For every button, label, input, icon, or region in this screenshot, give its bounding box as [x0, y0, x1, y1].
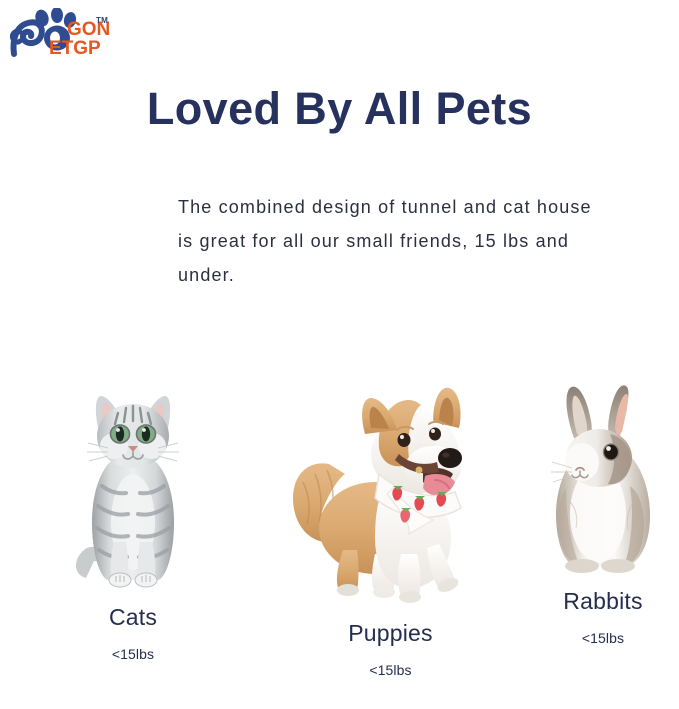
- silver-tabby-cat-illustration: [70, 382, 196, 590]
- rabbit-illustration: [544, 382, 662, 574]
- corgi-puppy-illustration: [283, 382, 499, 610]
- pet-item-rabbits: Rabbits <15lbs: [528, 382, 678, 645]
- pet-weight-rabbits: <15lbs: [528, 631, 678, 645]
- paw-print-icon: GON ETGP: [8, 8, 128, 60]
- brand-name-line2: ETGP: [49, 38, 101, 59]
- description-text: The combined design of tunnel and cat ho…: [178, 190, 598, 292]
- pet-list: Cats <15lbs: [0, 382, 679, 709]
- cat-photo: [70, 382, 196, 590]
- pet-item-cats: Cats <15lbs: [58, 382, 208, 661]
- trademark-symbol: TM: [96, 16, 108, 25]
- brand-logo: GON ETGP TM: [8, 8, 128, 60]
- pet-weight-puppies: <15lbs: [268, 663, 513, 677]
- pet-item-puppies: Puppies <15lbs: [268, 382, 513, 677]
- pet-weight-cats: <15lbs: [58, 647, 208, 661]
- puppy-photo: [283, 382, 499, 610]
- rabbit-photo: [544, 382, 662, 574]
- pet-label-rabbits: Rabbits: [528, 590, 678, 613]
- pet-label-cats: Cats: [58, 606, 208, 629]
- page-title: Loved By All Pets: [0, 84, 679, 134]
- pet-label-puppies: Puppies: [268, 622, 513, 645]
